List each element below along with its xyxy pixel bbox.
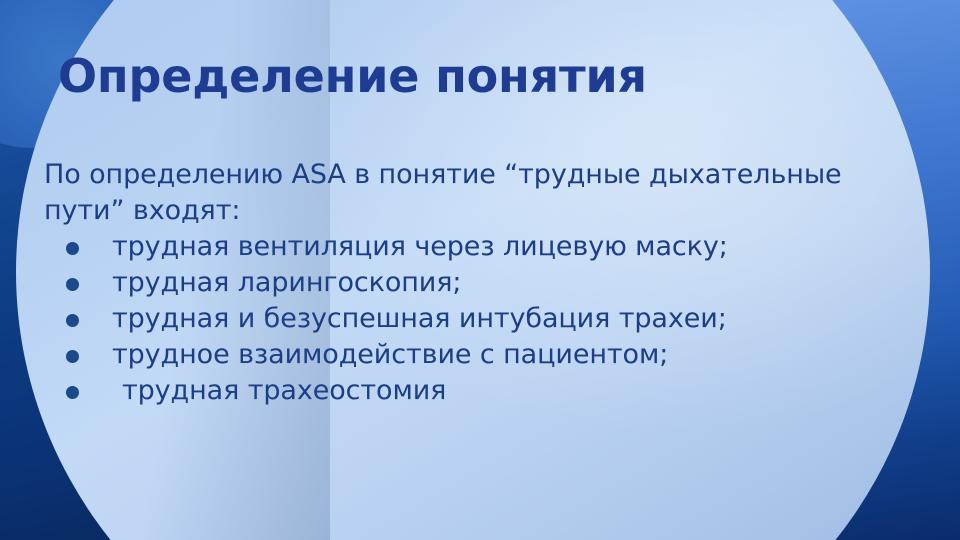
list-item-label: трудное взаимодействие с пациентом; xyxy=(112,339,668,370)
list-item: трудная ларингоскопия; xyxy=(44,265,914,301)
list-item-label: трудная и безуспешная интубация трахеи; xyxy=(112,303,727,334)
bullet-dot-icon xyxy=(66,242,79,255)
slide-content: Определение понятия По определению ASA в… xyxy=(0,0,960,540)
list-item: трудная трахеостомия xyxy=(44,373,914,409)
list-item: трудная и безуспешная интубация трахеи; xyxy=(44,301,914,337)
bullet-dot-icon xyxy=(66,386,79,399)
list-item: трудное взаимодействие с пациентом; xyxy=(44,337,914,373)
slide-canvas: Определение понятия По определению ASA в… xyxy=(0,0,960,540)
bullet-list: трудная вентиляция через лицевую маску; … xyxy=(44,229,914,409)
list-item-label: трудная ларингоскопия; xyxy=(112,267,461,298)
list-item-label: трудная трахеостомия xyxy=(122,375,446,406)
list-item-label: трудная вентиляция через лицевую маску; xyxy=(112,231,728,262)
bullet-dot-icon xyxy=(66,278,79,291)
slide-body: По определению ASA в понятие “трудные ды… xyxy=(44,157,914,409)
bullet-dot-icon xyxy=(66,314,79,327)
list-item: трудная вентиляция через лицевую маску; xyxy=(44,229,914,265)
intro-paragraph: По определению ASA в понятие “трудные ды… xyxy=(44,157,914,229)
slide-title: Определение понятия xyxy=(58,51,647,103)
bullet-dot-icon xyxy=(66,350,79,363)
